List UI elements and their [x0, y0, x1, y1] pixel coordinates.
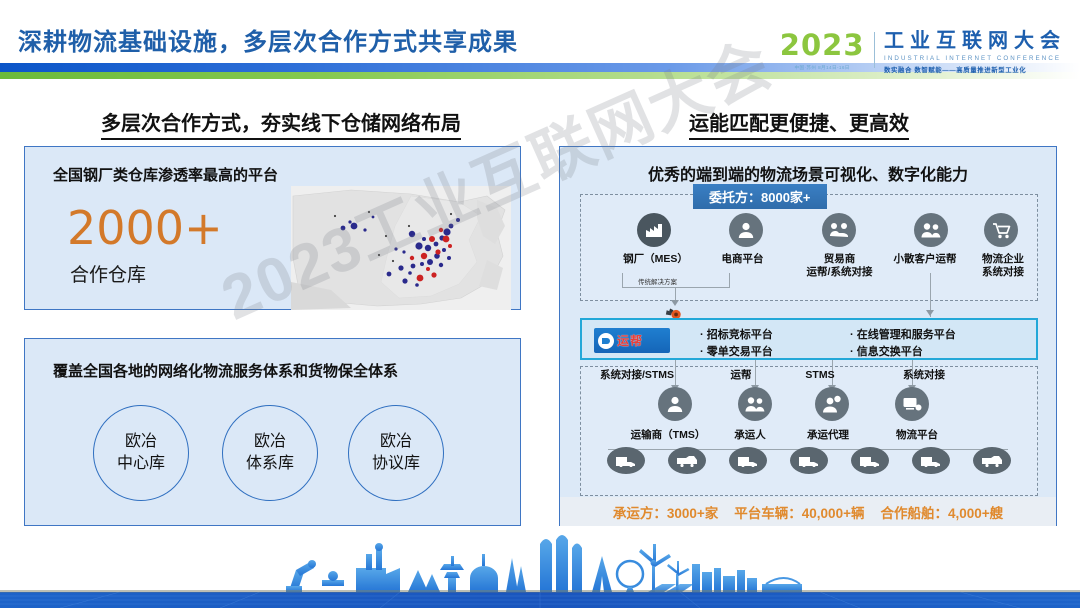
logo-name-block: 工业互联网大会 INDUSTRIAL INTERNET CONFERENCE 数…	[884, 30, 1066, 74]
left-column-heading: 多层次合作方式，夯实线下仓储网络布局	[101, 107, 461, 140]
stat-vehicles: 平台车辆：40,000+辆	[734, 502, 864, 522]
conference-logo: 2023 中国·苏州 8月14日-16日 工业互联网大会 INDUSTRIAL …	[780, 30, 1066, 74]
logo-name-cn: 工业互联网大会	[884, 31, 1066, 52]
bottom-top-label-stms: STMS	[782, 369, 858, 382]
handshake-icon	[822, 213, 856, 247]
logo-divider	[874, 32, 876, 68]
group-icon	[738, 387, 772, 421]
arrowhead	[671, 300, 679, 306]
node-caption-logistics-enterprise: 物流企业 系统对接	[958, 253, 1048, 279]
yunbang-mark-icon	[598, 333, 614, 349]
stat-vessels: 合作船舶：4,000+艘	[880, 502, 1003, 522]
person-icon	[729, 213, 763, 247]
logo-year-block: 2023 中国·苏州 8月14日-16日	[780, 30, 865, 71]
warehouse-circle-center: 欧冶 中心库	[93, 405, 189, 501]
entrust-tag: 委托方：8000家+	[693, 184, 827, 209]
panel-a-title: 全国钢厂类仓库渗透率最高的平台	[53, 164, 278, 185]
circle-line1: 欧冶	[380, 431, 412, 453]
platform-bullet-tender: 招标竞标平台	[700, 326, 773, 342]
truck-icon-1	[607, 447, 645, 474]
node-caption-trader: 贸易商 运帮/系统对接	[787, 253, 892, 279]
connector-line	[622, 273, 623, 287]
yunbang-platform-strip[interactable]: 运帮 招标竞标平台 在线管理和服务平台 零单交易平台 信息交换平台	[580, 318, 1038, 360]
cart-icon	[984, 213, 1018, 247]
footer-skyline	[0, 530, 1080, 608]
circle-line1: 欧冶	[125, 431, 157, 453]
node-caption-ecommerce: 电商平台	[700, 253, 785, 266]
truck-icon-3	[729, 447, 767, 474]
bottom-caption-carrier: 承运人	[718, 429, 782, 442]
user-icon	[658, 387, 692, 421]
yunbang-logo-text: 运帮	[617, 332, 643, 349]
right-column-heading: 运能匹配更便捷、更高效	[689, 107, 909, 140]
circle-line2: 中心库	[117, 453, 165, 475]
truck-icon-2	[668, 447, 706, 474]
warehouse-count: 2000+	[67, 201, 223, 255]
yunbang-logo: 运帮	[594, 328, 670, 353]
circle-line1: 欧冶	[254, 431, 286, 453]
stat-carriers: 承运方：3000+家	[613, 502, 718, 522]
logo-name-en: INDUSTRIAL INTERNET CONFERENCE	[884, 55, 1066, 62]
china-warehouse-map	[291, 186, 511, 310]
node-caption-factory: 钢厂（MES）	[603, 253, 708, 266]
panel-b-title: 覆盖全国各地的网络化物流服务体系和货物保全体系	[53, 361, 473, 383]
logo-date: 中国·苏州 8月14日-16日	[780, 65, 865, 71]
warehouse-count-label: 合作仓库	[70, 260, 146, 287]
capacity-stats-bar: 承运方：3000+家 平台车辆：40,000+辆 合作船舶：4,000+艘	[560, 497, 1056, 526]
truck-icon-7	[973, 447, 1011, 474]
arrowhead	[926, 310, 934, 316]
node-caption-small-client: 小散客户运帮	[890, 253, 960, 266]
circle-line2: 协议库	[372, 453, 420, 475]
page-title: 深耕物流基础设施，多层次合作方式共享成果	[18, 22, 518, 57]
platform-bullet-ltl: 零单交易平台	[700, 343, 773, 359]
bottom-top-label-tms: 系统对接/STMS	[582, 369, 692, 382]
connector-line	[729, 273, 730, 287]
truck-icon-5	[851, 447, 889, 474]
logo-slogan: 数实融合 数智赋能——高质量推进新型工业化	[884, 65, 1066, 74]
bottom-top-label-system: 系统对接	[878, 369, 970, 382]
platform-bullet-online: 在线管理和服务平台	[850, 326, 956, 342]
factory-icon	[637, 213, 671, 247]
right-panel-title: 优秀的端到端的物流场景可视化、数字化能力	[560, 161, 1056, 185]
bottom-caption-agent: 承运代理	[790, 429, 866, 442]
circle-line2: 体系库	[246, 453, 294, 475]
people-icon	[914, 213, 948, 247]
truck-icon-6	[912, 447, 950, 474]
arrow-label-traditional: 传统解决方案	[638, 276, 677, 286]
warehouse-circle-system: 欧冶 体系库	[222, 405, 318, 501]
map-svg	[291, 186, 511, 310]
monitor-icon	[895, 387, 929, 421]
bottom-top-label-yunbang: 运帮	[708, 369, 774, 382]
bottom-caption-platform: 物流平台	[872, 429, 962, 442]
warehouse-circle-agreement: 欧冶 协议库	[348, 405, 444, 501]
truck-icon-4	[790, 447, 828, 474]
agent-icon	[815, 387, 849, 421]
slide-root: 深耕物流基础设施，多层次合作方式共享成果 2023 中国·苏州 8月14日-16…	[0, 0, 1080, 608]
footer-svg	[0, 530, 1080, 608]
logo-year: 2023	[780, 31, 865, 60]
bottom-caption-tms: 运输商（TMS）	[622, 429, 714, 442]
platform-bullet-exchange: 信息交换平台	[850, 343, 923, 359]
